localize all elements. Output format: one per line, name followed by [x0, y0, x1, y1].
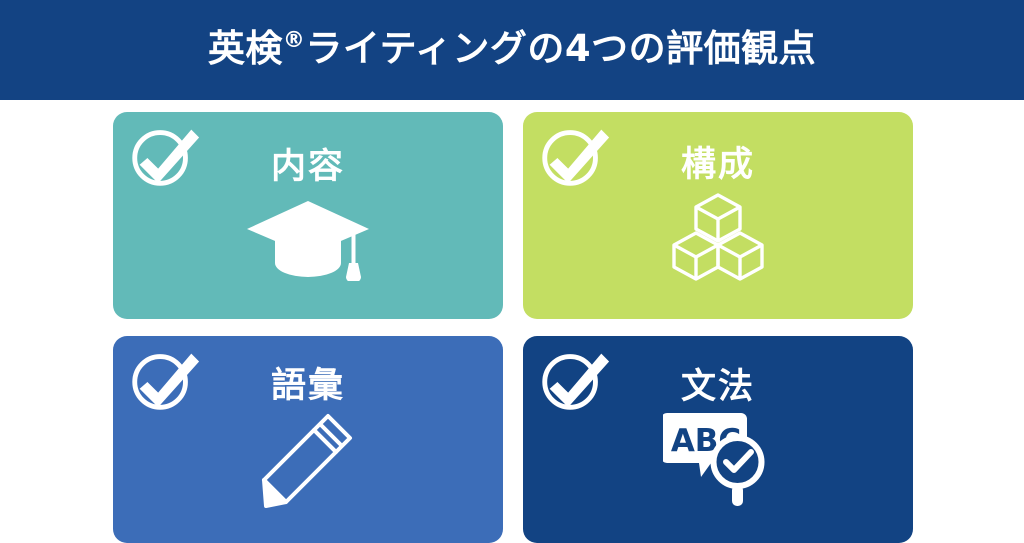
pencil-icon [260, 410, 356, 510]
card-label: 語彙 [271, 369, 345, 404]
abc-speech-bubble-magnifier-icon: ABC [663, 407, 773, 509]
criteria-card-grammar[interactable]: 文法 ABC [523, 336, 913, 543]
criteria-card-content[interactable]: 内容 [113, 112, 503, 319]
page-title: 英検®ライティングの4つの評価観点 [208, 30, 816, 67]
stacked-cubes-icon [668, 191, 768, 283]
infographic-page: 英検®ライティングの4つの評価観点 内容 [0, 0, 1024, 538]
card-body: 語彙 [113, 336, 503, 543]
page-title-prefix: 英検 [208, 27, 283, 70]
page-title-suffix: ライティングの4つの評価観点 [305, 27, 816, 70]
card-body: 構成 [523, 112, 913, 319]
graduation-cap-icon [245, 199, 371, 281]
card-label: 構成 [681, 148, 755, 183]
card-label: 内容 [271, 150, 345, 185]
card-body: 文法 ABC [523, 336, 913, 543]
criteria-card-structure[interactable]: 構成 [523, 112, 913, 319]
card-label: 文法 [681, 370, 755, 405]
criteria-card-grid: 内容 構成 [113, 112, 913, 529]
card-body: 内容 [113, 112, 503, 319]
registered-mark: ® [283, 28, 306, 53]
criteria-card-vocabulary[interactable]: 語彙 [113, 336, 503, 543]
header-bar: 英検®ライティングの4つの評価観点 [0, 0, 1024, 100]
